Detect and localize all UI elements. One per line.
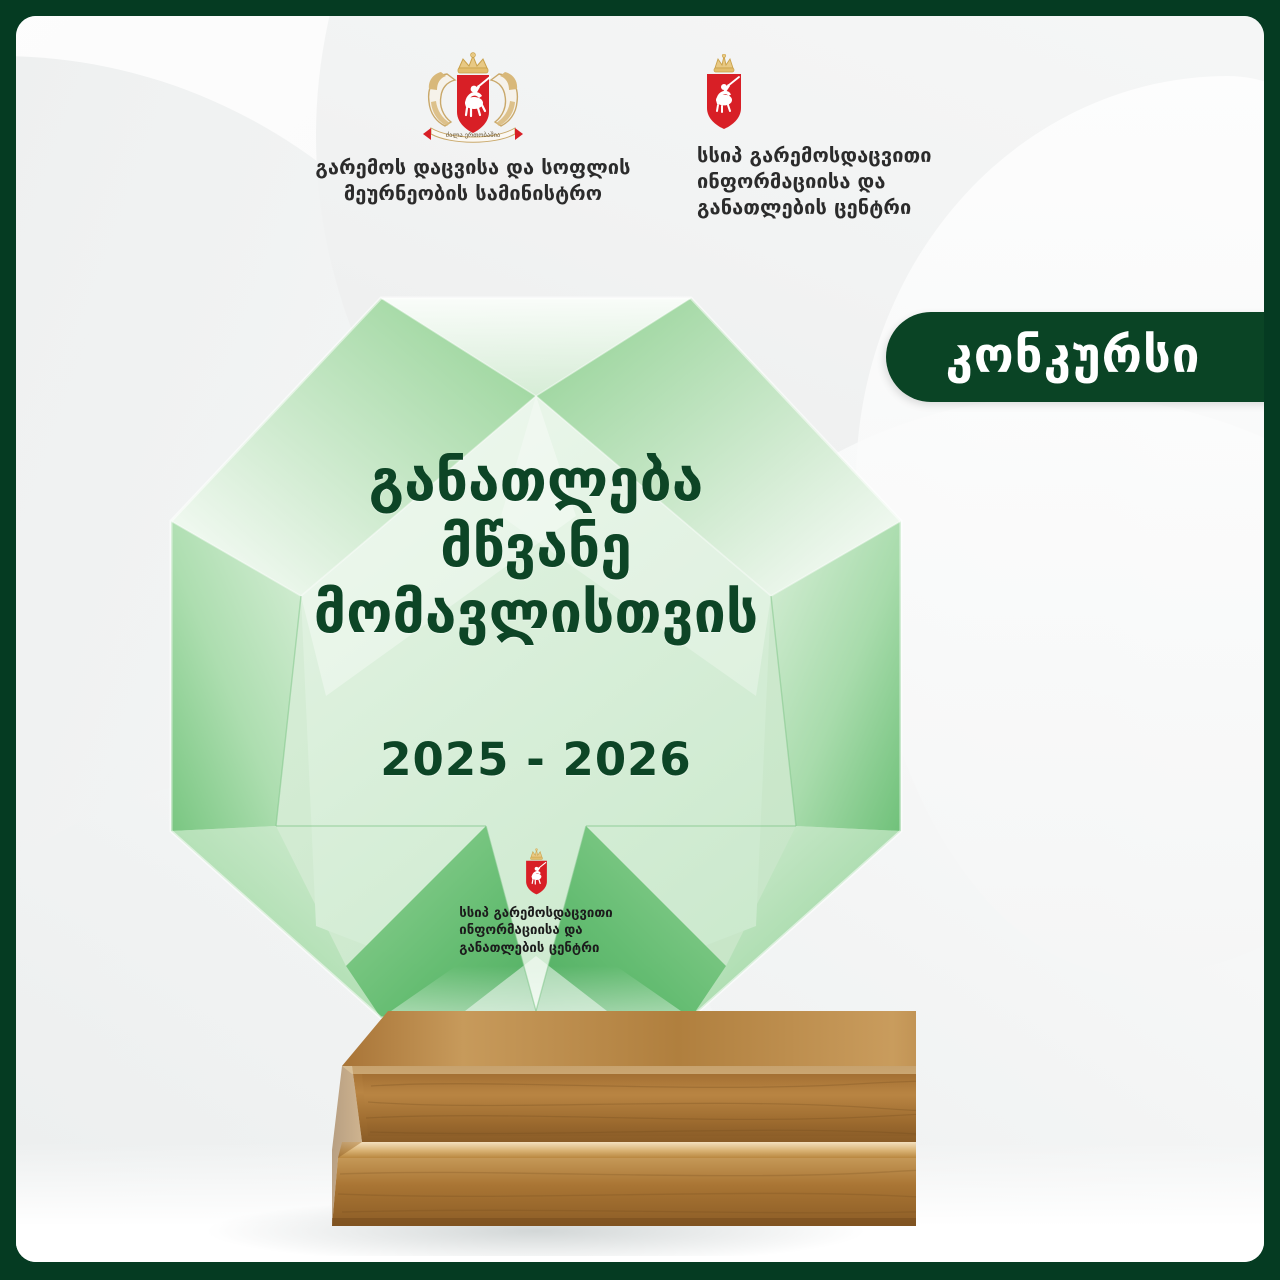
trophy-award: განათლება მწვანე მომავლისთვის 2025 - 202… <box>156 266 916 1256</box>
konkursi-badge-label: კონკურსი <box>946 331 1237 384</box>
svg-text:ძალა ერთობაშია: ძალა ერთობაშია <box>446 130 500 139</box>
trophy-headline: განათლება მწვანე მომავლისთვის <box>156 448 916 646</box>
georgia-shield-emblem-icon <box>520 848 553 898</box>
konkursi-badge[interactable]: კონკურსი <box>886 312 1264 402</box>
trophy-inner-logo: სსიპ გარემოსდაცვითი ინფორმაციისა და განა… <box>156 848 916 957</box>
ministry-logo-text: გარემოს დაცვისა და სოფლის მეურნეობის სამ… <box>315 154 630 206</box>
poster-root: ძალა ერთობაშია გარემოს დაცვისა და სოფლის… <box>0 0 1280 1280</box>
georgia-coat-of-arms-icon: ძალა ერთობაშია <box>411 52 535 148</box>
ministry-logo: ძალა ერთობაშია გარემოს დაცვისა და სოფლის… <box>303 52 643 206</box>
georgia-shield-emblem-icon <box>697 54 751 134</box>
center-logo-text: სსიპ გარემოსდაცვითი ინფორმაციისა და განა… <box>697 142 932 220</box>
trophy-years: 2025 - 2026 <box>156 733 916 786</box>
header-logos: ძალა ერთობაშია გარემოს დაცვისა და სოფლის… <box>16 52 1264 220</box>
poster-canvas: ძალა ერთობაშია გარემოს დაცვისა და სოფლის… <box>16 16 1264 1262</box>
center-logo: სსიპ გარემოსდაცვითი ინფორმაციისა და განა… <box>697 52 977 220</box>
trophy-inner-logo-text: სსიპ გარემოსდაცვითი ინფორმაციისა და განა… <box>459 905 612 957</box>
